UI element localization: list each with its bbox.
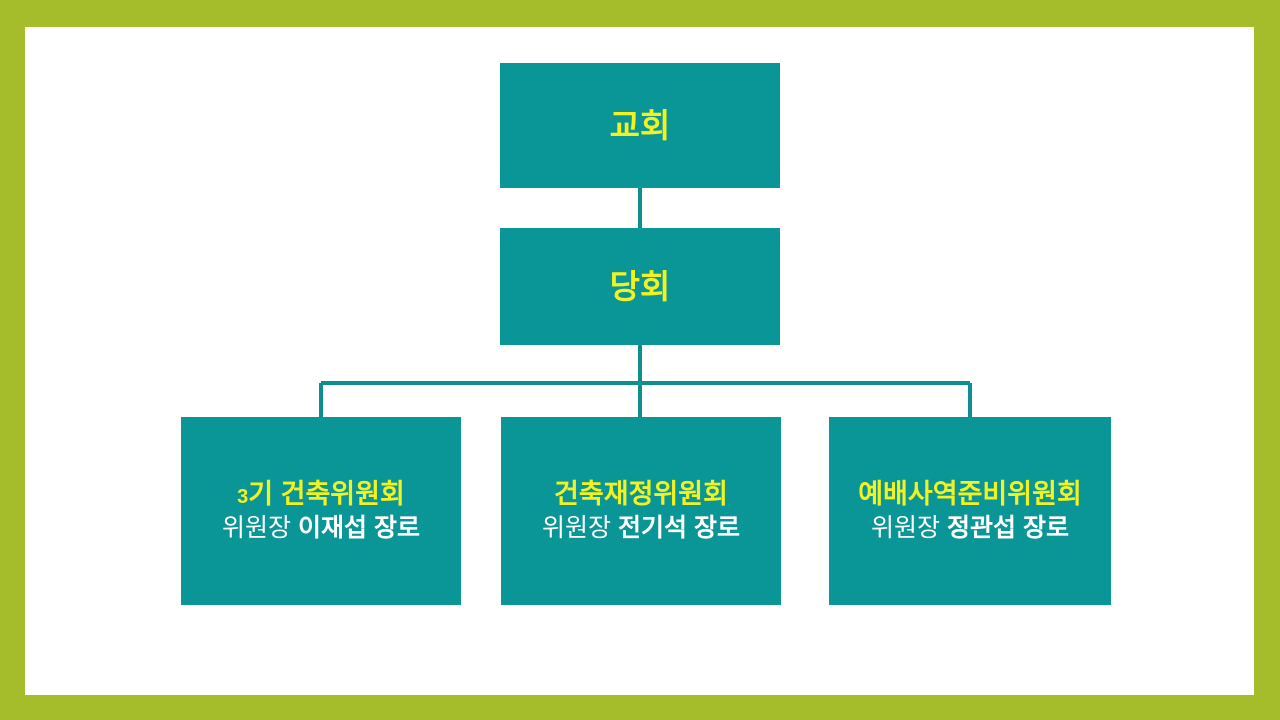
org-node-committee-2-title-rest: 건축재정위원회: [554, 479, 728, 509]
org-node-committee-2-role: 위원장: [542, 514, 611, 542]
org-node-committee-2[interactable]: 건축재정위원회 위원장 전기석 장로: [501, 417, 781, 605]
slide: 교회 당회 3기 건축위원회 위원장 이재섭 장로 건축재정위원회 위원장 전기…: [0, 0, 1280, 720]
org-node-committee-3-rank: 장로: [1023, 514, 1069, 542]
org-node-committee-3-subtitle: 위원장 정관섭 장로: [871, 514, 1069, 543]
org-node-committee-3-role: 위원장: [871, 514, 940, 542]
org-node-session-title: 당회: [610, 268, 671, 306]
org-node-committee-3-name: 정관섭: [947, 514, 1016, 542]
org-node-committee-2-rank: 장로: [694, 514, 740, 542]
org-node-committee-1-rank: 장로: [374, 514, 420, 542]
org-node-committee-3-title: 예배사역준비위원회: [858, 479, 1082, 510]
org-node-committee-2-title: 건축재정위원회: [554, 479, 728, 510]
org-node-committee-3[interactable]: 예배사역준비위원회 위원장 정관섭 장로: [829, 417, 1111, 605]
org-node-committee-1-subtitle: 위원장 이재섭 장로: [222, 514, 420, 543]
org-node-committee-1-ordinal: 3: [237, 486, 248, 508]
org-node-session[interactable]: 당회: [500, 228, 780, 345]
org-node-committee-3-title-rest: 예배사역준비위원회: [858, 479, 1082, 509]
slide-canvas: 교회 당회 3기 건축위원회 위원장 이재섭 장로 건축재정위원회 위원장 전기…: [25, 27, 1254, 695]
org-node-committee-1-title-rest: 기 건축위원회: [248, 479, 405, 509]
org-node-church-title: 교회: [610, 107, 671, 145]
org-node-committee-1[interactable]: 3기 건축위원회 위원장 이재섭 장로: [181, 417, 461, 605]
org-node-committee-2-subtitle: 위원장 전기석 장로: [542, 514, 740, 543]
org-node-church[interactable]: 교회: [500, 63, 780, 188]
org-node-committee-1-title: 3기 건축위원회: [237, 479, 405, 510]
org-node-committee-1-role: 위원장: [222, 514, 291, 542]
org-node-committee-2-name: 전기석: [618, 514, 687, 542]
org-node-committee-1-name: 이재섭: [298, 514, 367, 542]
